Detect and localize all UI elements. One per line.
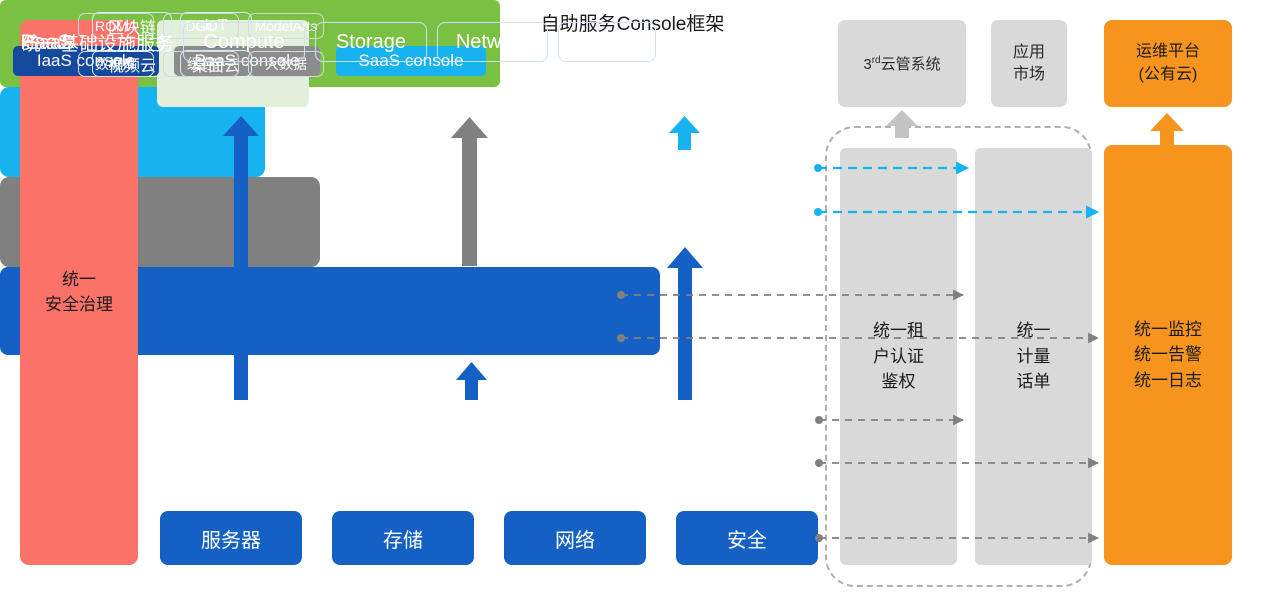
app-market-line-1: 应用 — [1013, 42, 1045, 64]
meter-line-1: 统一 — [1017, 318, 1051, 344]
infrastructure-label: 统一基础设施服务 — [22, 29, 174, 56]
hardware-server-box: 服务器 — [160, 511, 302, 565]
infra-service-network[interactable]: Network — [437, 22, 548, 62]
hardware-security-box: 安全 — [676, 511, 818, 565]
meter-line-3: 话单 — [1017, 369, 1051, 395]
third-cloud-label: 3rd云管系统 — [863, 53, 940, 74]
arrow-saas-to-saas-console — [669, 116, 700, 150]
third-party-cloud-mgmt-box: 3rd云管系统 — [838, 20, 966, 107]
ops-platform-line-1: 运维平台 — [1136, 41, 1200, 63]
auth-line-2: 户认证 — [873, 344, 924, 370]
arrow-iaas-to-paas — [456, 362, 487, 400]
infra-service-compute[interactable]: Compute — [183, 22, 305, 62]
ops-platform-line-2: (公有云) — [1136, 64, 1200, 86]
hardware-network-box: 网络 — [504, 511, 646, 565]
security-governance-column: 统一 安全治理 — [20, 20, 138, 565]
auth-line-1: 统一租 — [873, 318, 924, 344]
ops-platform-box: 运维平台 (公有云) — [1104, 20, 1232, 107]
app-market-box: 应用 市场 — [991, 20, 1067, 107]
infra-service-storage[interactable]: Storage — [315, 22, 427, 62]
infra-service-cce[interactable]: CCE — [558, 22, 656, 62]
ops-column-line-1: 统一监控 — [1134, 317, 1202, 343]
architecture-diagram: 统一 安全治理 API网关 自助服务Console框架 IaaS console… — [0, 0, 1265, 605]
ops-column-line-2: 统一告警 — [1134, 342, 1202, 368]
ops-monitoring-column: 统一监控 统一告警 统一日志 — [1104, 145, 1232, 565]
security-line-1: 统一 — [45, 268, 113, 293]
meter-line-2: 计量 — [1017, 344, 1051, 370]
auth-line-3: 鉴权 — [873, 369, 924, 395]
unified-tenant-auth-column: 统一租 户认证 鉴权 — [840, 148, 957, 565]
hardware-storage-box: 存储 — [332, 511, 474, 565]
arrow-paas-to-console — [451, 117, 488, 266]
arrow-ops-column-to-platform — [1150, 113, 1184, 146]
ops-column-line-3: 统一日志 — [1134, 368, 1202, 394]
arrow-iaas-to-saas — [667, 247, 703, 400]
security-line-2: 安全治理 — [45, 293, 113, 318]
app-market-line-2: 市场 — [1013, 64, 1045, 86]
unified-metering-billing-column: 统一 计量 话单 — [975, 148, 1092, 565]
